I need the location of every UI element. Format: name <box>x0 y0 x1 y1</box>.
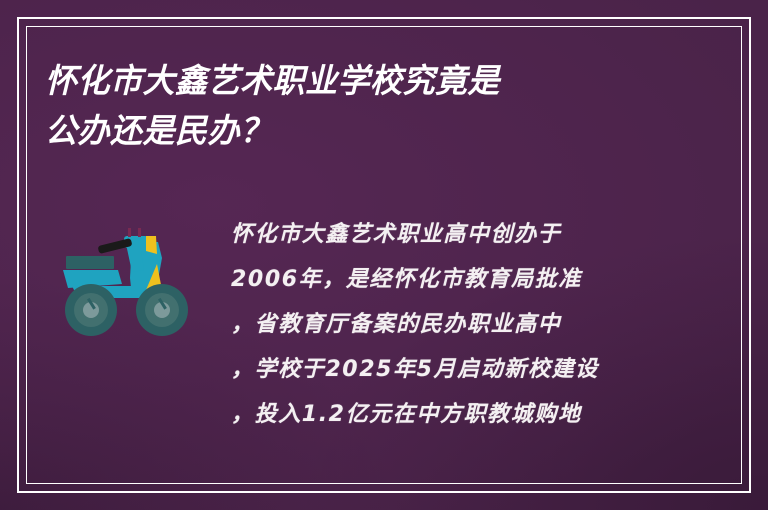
scooter-mirror-stem-right <box>138 228 141 237</box>
body-line-3: ，省教育厅备案的民办职业高中 <box>231 302 667 347</box>
title-line-2: 公办还是民办？ <box>45 106 646 156</box>
body-copy: 怀化市大鑫艺术职业高中创办于 2006年，是经怀化市教育局批准 ，省教育厅备案的… <box>231 212 667 437</box>
poster-canvas: 怀化市大鑫艺术职业学校究竟是 公办还是民办？ <box>0 0 768 510</box>
title-line-1: 怀化市大鑫艺术职业学校究竟是 <box>45 56 646 106</box>
page-title: 怀化市大鑫艺术职业学校究竟是 公办还是民办？ <box>45 56 665 156</box>
scooter-headlight-accent <box>146 236 157 254</box>
scooter-rear-rack <box>66 256 114 269</box>
body-line-1: 怀化市大鑫艺术职业高中创办于 <box>231 212 667 257</box>
scooter-mirror-stem-left <box>128 228 131 237</box>
scooter-handlebar <box>98 238 133 254</box>
body-line-5: ，投入1.2亿元在中方职教城购地 <box>231 392 667 437</box>
body-line-4: ，学校于2025年5月启动新校建设 <box>231 347 667 392</box>
body-line-2: 2006年，是经怀化市教育局批准 <box>231 257 667 302</box>
scooter-illustration <box>58 218 203 348</box>
